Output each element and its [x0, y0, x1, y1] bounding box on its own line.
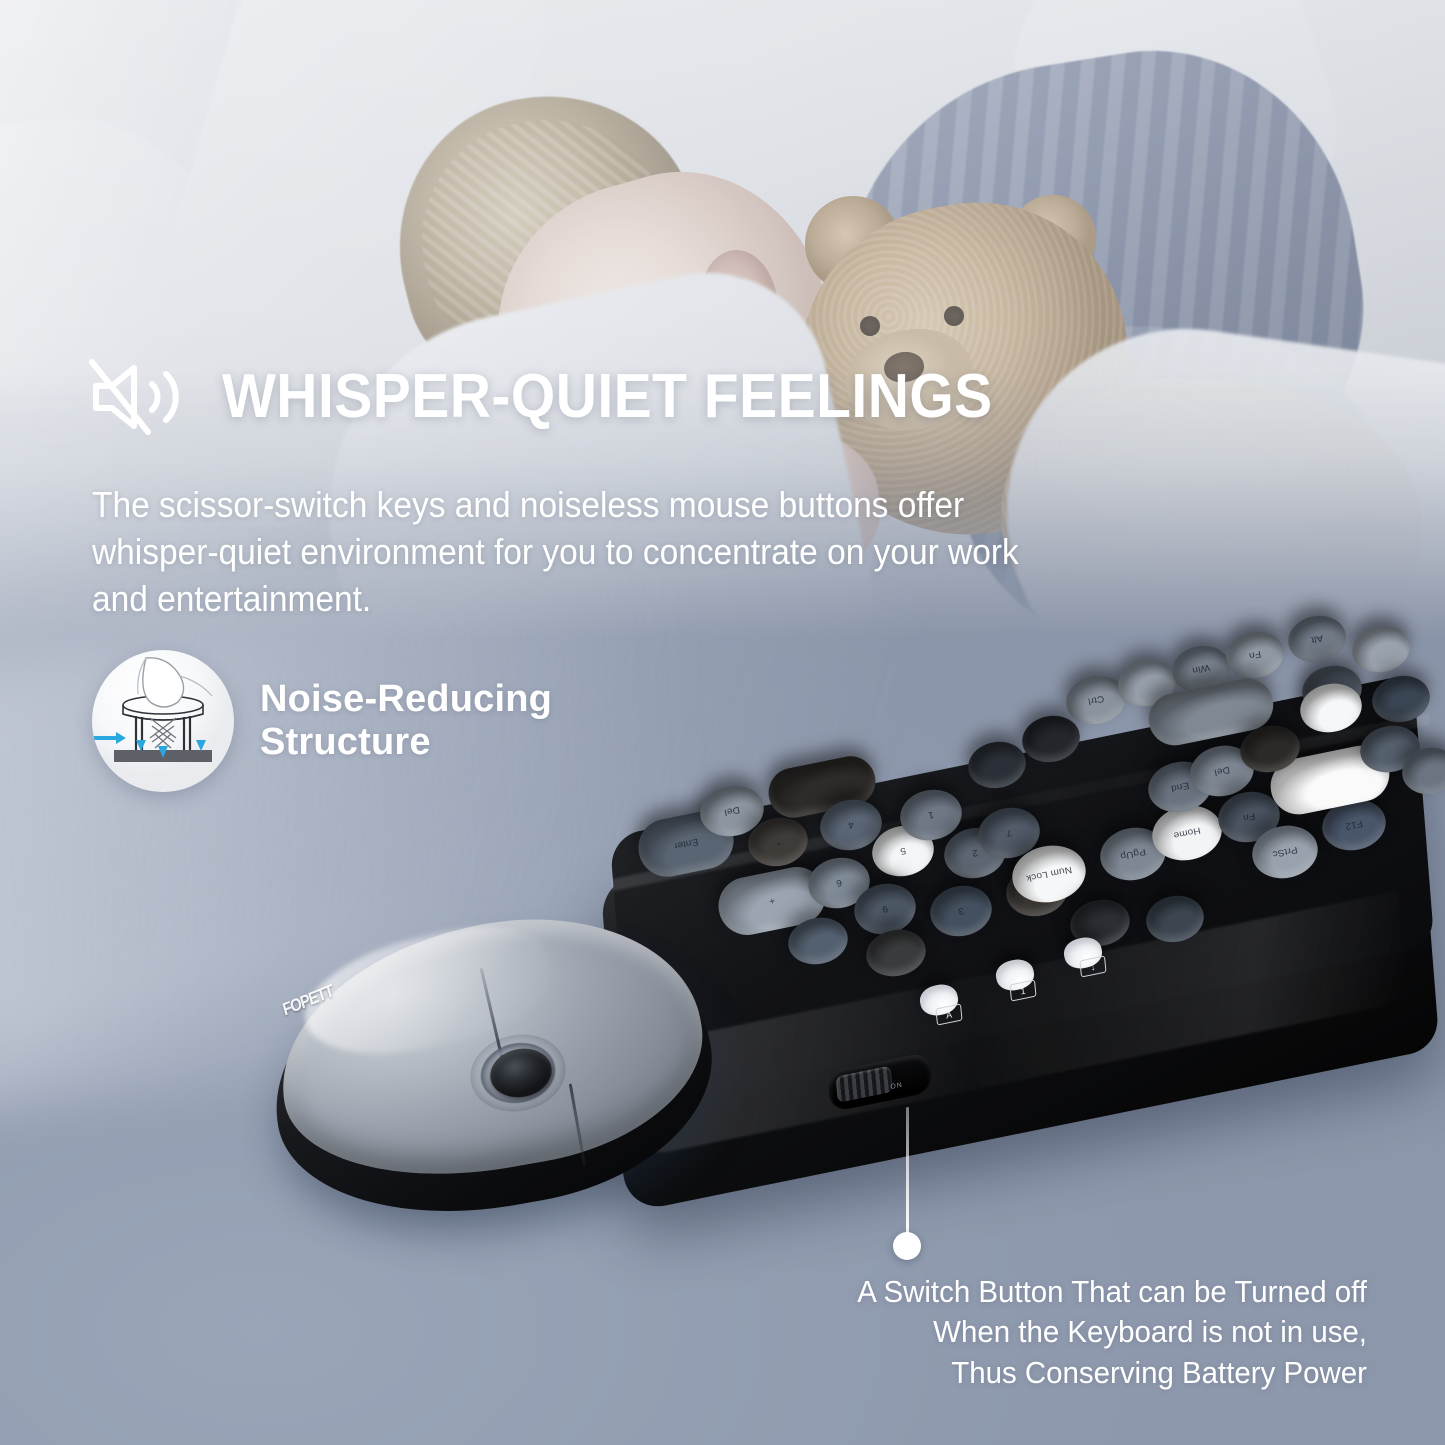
keycap-label: 4 — [847, 819, 855, 830]
feature-label-line2: Structure — [260, 721, 552, 764]
keycap[interactable] — [1368, 671, 1434, 728]
keycap-label: Ctrl — [1087, 693, 1105, 706]
keycap-label: PrtSc — [1272, 845, 1299, 860]
keycap-label: Fn — [1242, 811, 1256, 823]
keycap[interactable] — [1348, 621, 1414, 678]
keycap-label: Home — [1173, 825, 1202, 840]
keycap-label: Win — [1191, 662, 1210, 675]
keycap-label: F12 — [1344, 818, 1364, 831]
keycap-label: Num Lock — [1025, 864, 1073, 883]
keycap-label: 7 — [1005, 827, 1013, 838]
callout-leader-line — [906, 1107, 909, 1239]
callout-line-3: Thus Conserving Battery Power — [702, 1353, 1367, 1393]
callout-caption: A Switch Button That can be Turned off W… — [702, 1272, 1367, 1393]
keycap-label: Del — [723, 804, 740, 817]
keycap-label: 9 — [881, 903, 889, 914]
keycap[interactable] — [1142, 891, 1208, 948]
keycap-label: Fn — [1248, 649, 1262, 661]
keycap-3[interactable]: 3 — [926, 880, 997, 941]
keycap-label: 5 — [899, 845, 907, 856]
wireless-mouse: FOPETT — [258, 915, 728, 1225]
feature-label: Noise-Reducing Structure — [260, 678, 552, 763]
keycap-label: End — [1170, 780, 1190, 794]
keycap-label: * — [775, 837, 781, 848]
keycap-label: Enter — [673, 837, 699, 852]
keycap-label: + — [768, 895, 776, 906]
keycap-label: 3 — [957, 905, 965, 916]
page-title: WHISPER-QUIET FEELINGS — [222, 366, 993, 428]
feature-label-line1: Noise-Reducing — [260, 678, 552, 721]
keycap[interactable] — [1018, 711, 1084, 768]
headline-block: WHISPER-QUIET FEELINGS — [88, 358, 1060, 436]
product-feature-banner: WHISPER-QUIET FEELINGS The scissor-switc… — [0, 0, 1445, 1445]
keycap-label: 6 — [835, 877, 843, 888]
mute-speaker-icon — [88, 358, 196, 436]
callout-line-1: A Switch Button That can be Turned off — [702, 1272, 1367, 1312]
keycap-label: Alt — [1310, 633, 1324, 645]
feature-highlight: Noise-Reducing Structure — [92, 650, 552, 792]
callout-line-2: When the Keyboard is not in use, — [702, 1312, 1367, 1352]
keycap-fn[interactable]: Fn — [1222, 627, 1288, 684]
keycap-label: 1 — [927, 809, 935, 820]
keycap-label: 2 — [971, 847, 979, 858]
keycap-label: PgUp — [1119, 846, 1146, 861]
keycap[interactable] — [964, 737, 1030, 794]
scissor-switch-diagram-icon — [92, 650, 234, 792]
keycap-label: Del — [1213, 764, 1230, 777]
keycap-alt[interactable]: Alt — [1284, 611, 1350, 668]
callout-dot — [893, 1232, 921, 1260]
